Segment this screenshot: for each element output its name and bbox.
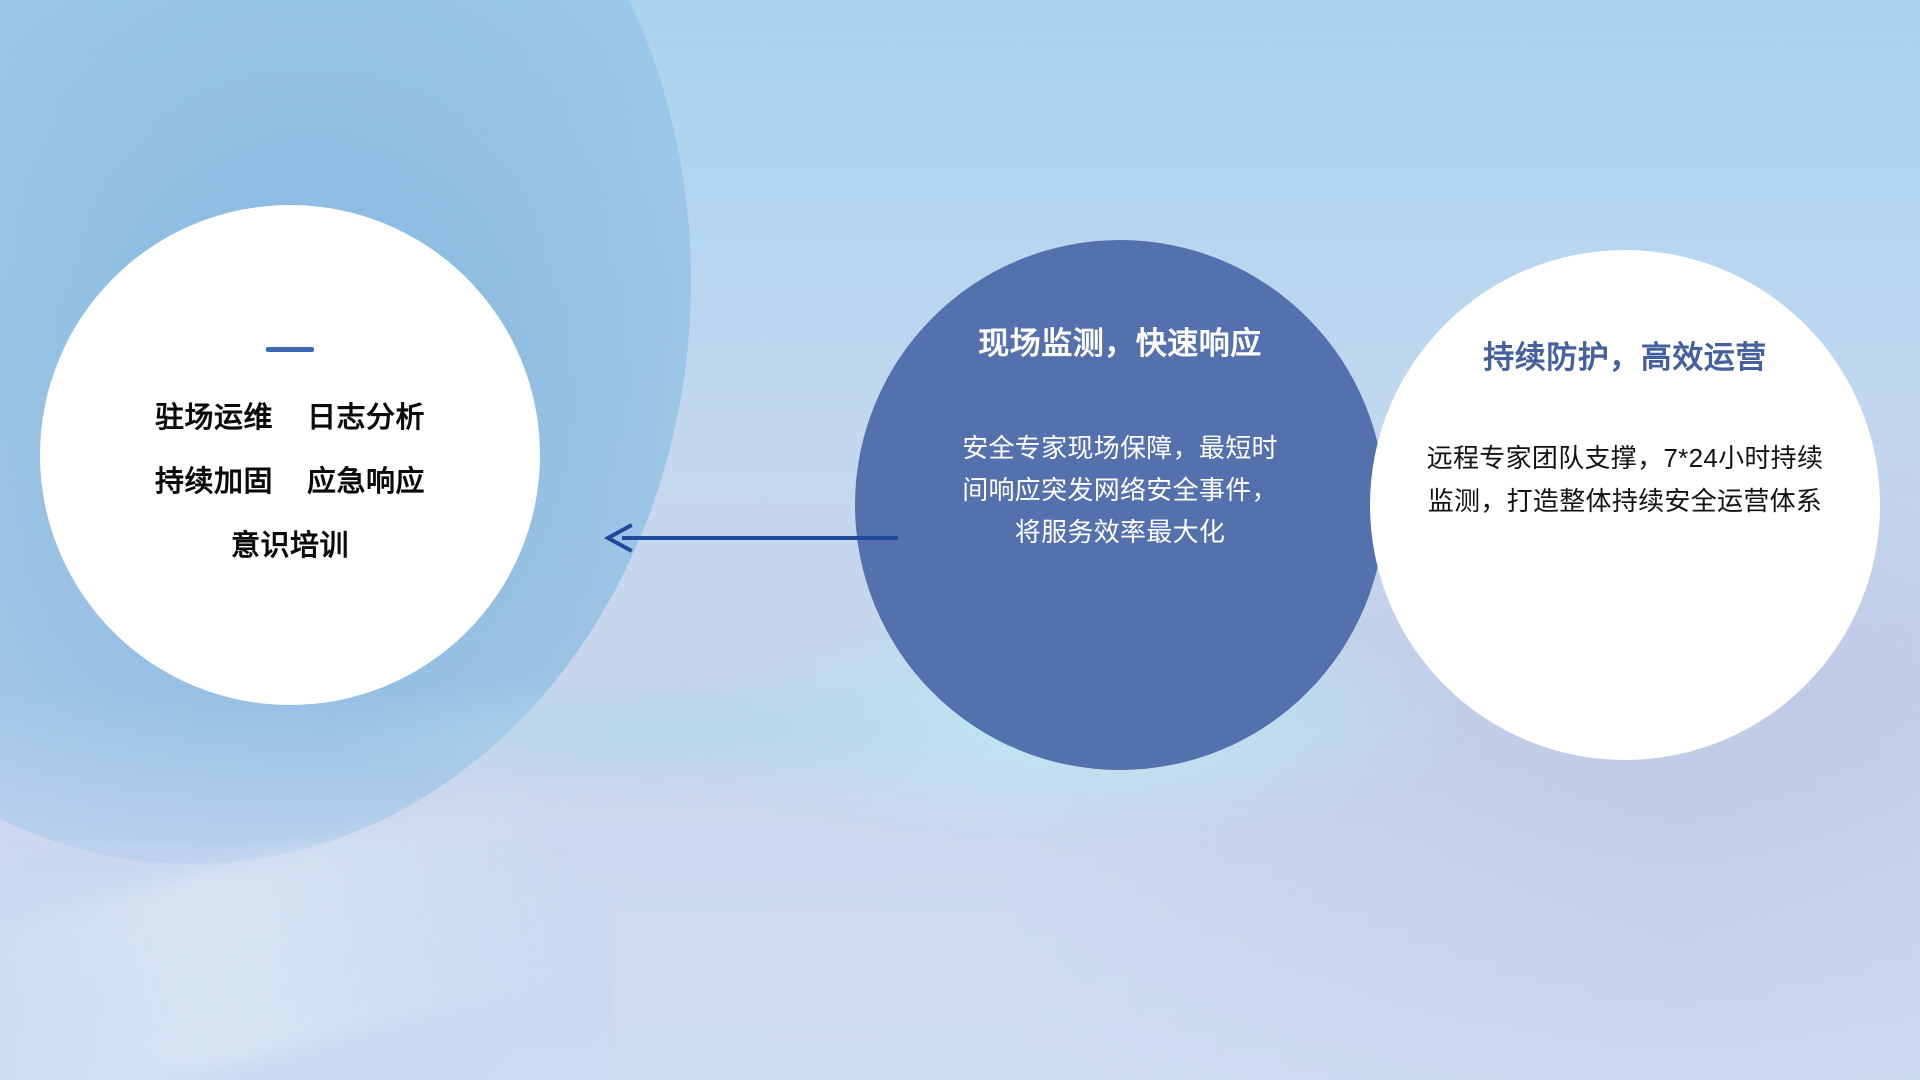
service-circle-continuous: 持续防护，高效运营 远程专家团队支撑，7*24小时持续监测，打造整体持续安全运营…	[1370, 250, 1880, 760]
continuous-circle-description: 远程专家团队支撑，7*24小时持续监测，打造整体持续安全运营体系	[1415, 437, 1835, 522]
service-circle-onsite: 现场监测，快速响应 安全专家现场保障，最短时间响应突发网络安全事件，将服务效率最…	[855, 240, 1385, 770]
capability-tag-row: 驻场运维 日志分析	[155, 394, 425, 436]
onsite-circle-title: 现场监测，快速响应	[978, 318, 1262, 363]
arrow-left-icon	[600, 520, 900, 556]
onsite-circle-description: 安全专家现场保障，最短时间响应突发网络安全事件，将服务效率最大化	[955, 427, 1285, 553]
capability-tag-list: 驻场运维 日志分析 持续加固 应急响应 意识培训	[155, 394, 425, 564]
capability-tag: 应急响应	[307, 458, 425, 500]
continuous-circle-title: 持续防护，高效运营	[1483, 332, 1767, 377]
flow-arrow-left	[600, 520, 900, 556]
capability-tag: 持续加固	[155, 458, 273, 500]
capability-tag: 意识培训	[231, 522, 349, 564]
service-circle-capabilities: 驻场运维 日志分析 持续加固 应急响应 意识培训	[40, 205, 540, 705]
title-divider-dash	[266, 347, 314, 352]
capability-tag-row: 持续加固 应急响应	[155, 458, 425, 500]
capability-tag: 驻场运维	[155, 394, 273, 436]
capability-tag: 日志分析	[307, 394, 425, 436]
capability-tag-row: 意识培训	[231, 522, 349, 564]
